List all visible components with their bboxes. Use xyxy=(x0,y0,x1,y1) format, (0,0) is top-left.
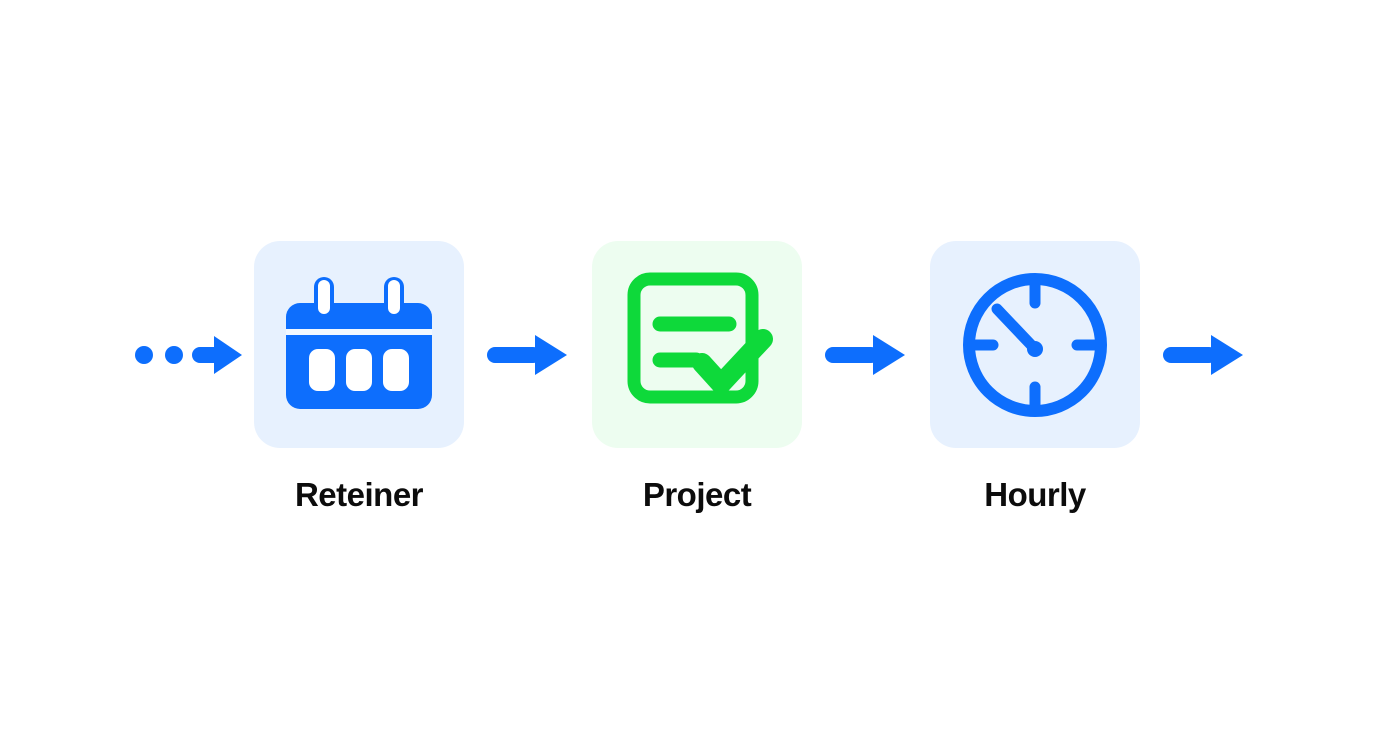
pricing-models-flow: Reteiner P xyxy=(0,0,1392,752)
step-label-retainer: Reteiner xyxy=(295,478,423,511)
lead-out-arrow xyxy=(1141,332,1267,378)
connector-arrow-2 xyxy=(803,332,929,378)
step-project[interactable]: Project xyxy=(591,241,803,511)
step-label-project: Project xyxy=(643,478,751,511)
step-retainer[interactable]: Reteiner xyxy=(253,241,465,511)
arrow-right-icon xyxy=(825,332,907,378)
hourly-icon-card[interactable] xyxy=(930,241,1140,448)
step-hourly[interactable]: Hourly xyxy=(929,241,1141,511)
arrow-right-icon xyxy=(1163,332,1245,378)
connector-arrow-1 xyxy=(465,332,591,378)
dot-icon xyxy=(135,346,153,364)
dot-icon xyxy=(165,346,183,364)
calendar-icon xyxy=(284,277,434,412)
clock-icon xyxy=(955,265,1115,425)
diagram-canvas: Reteiner P xyxy=(0,0,1392,752)
retainer-icon-card[interactable] xyxy=(254,241,464,448)
arrow-right-icon xyxy=(487,332,569,378)
step-label-hourly: Hourly xyxy=(984,478,1086,511)
checklist-check-icon xyxy=(617,265,777,425)
project-icon-card[interactable] xyxy=(592,241,802,448)
lead-in-dotted-arrow xyxy=(125,332,253,378)
